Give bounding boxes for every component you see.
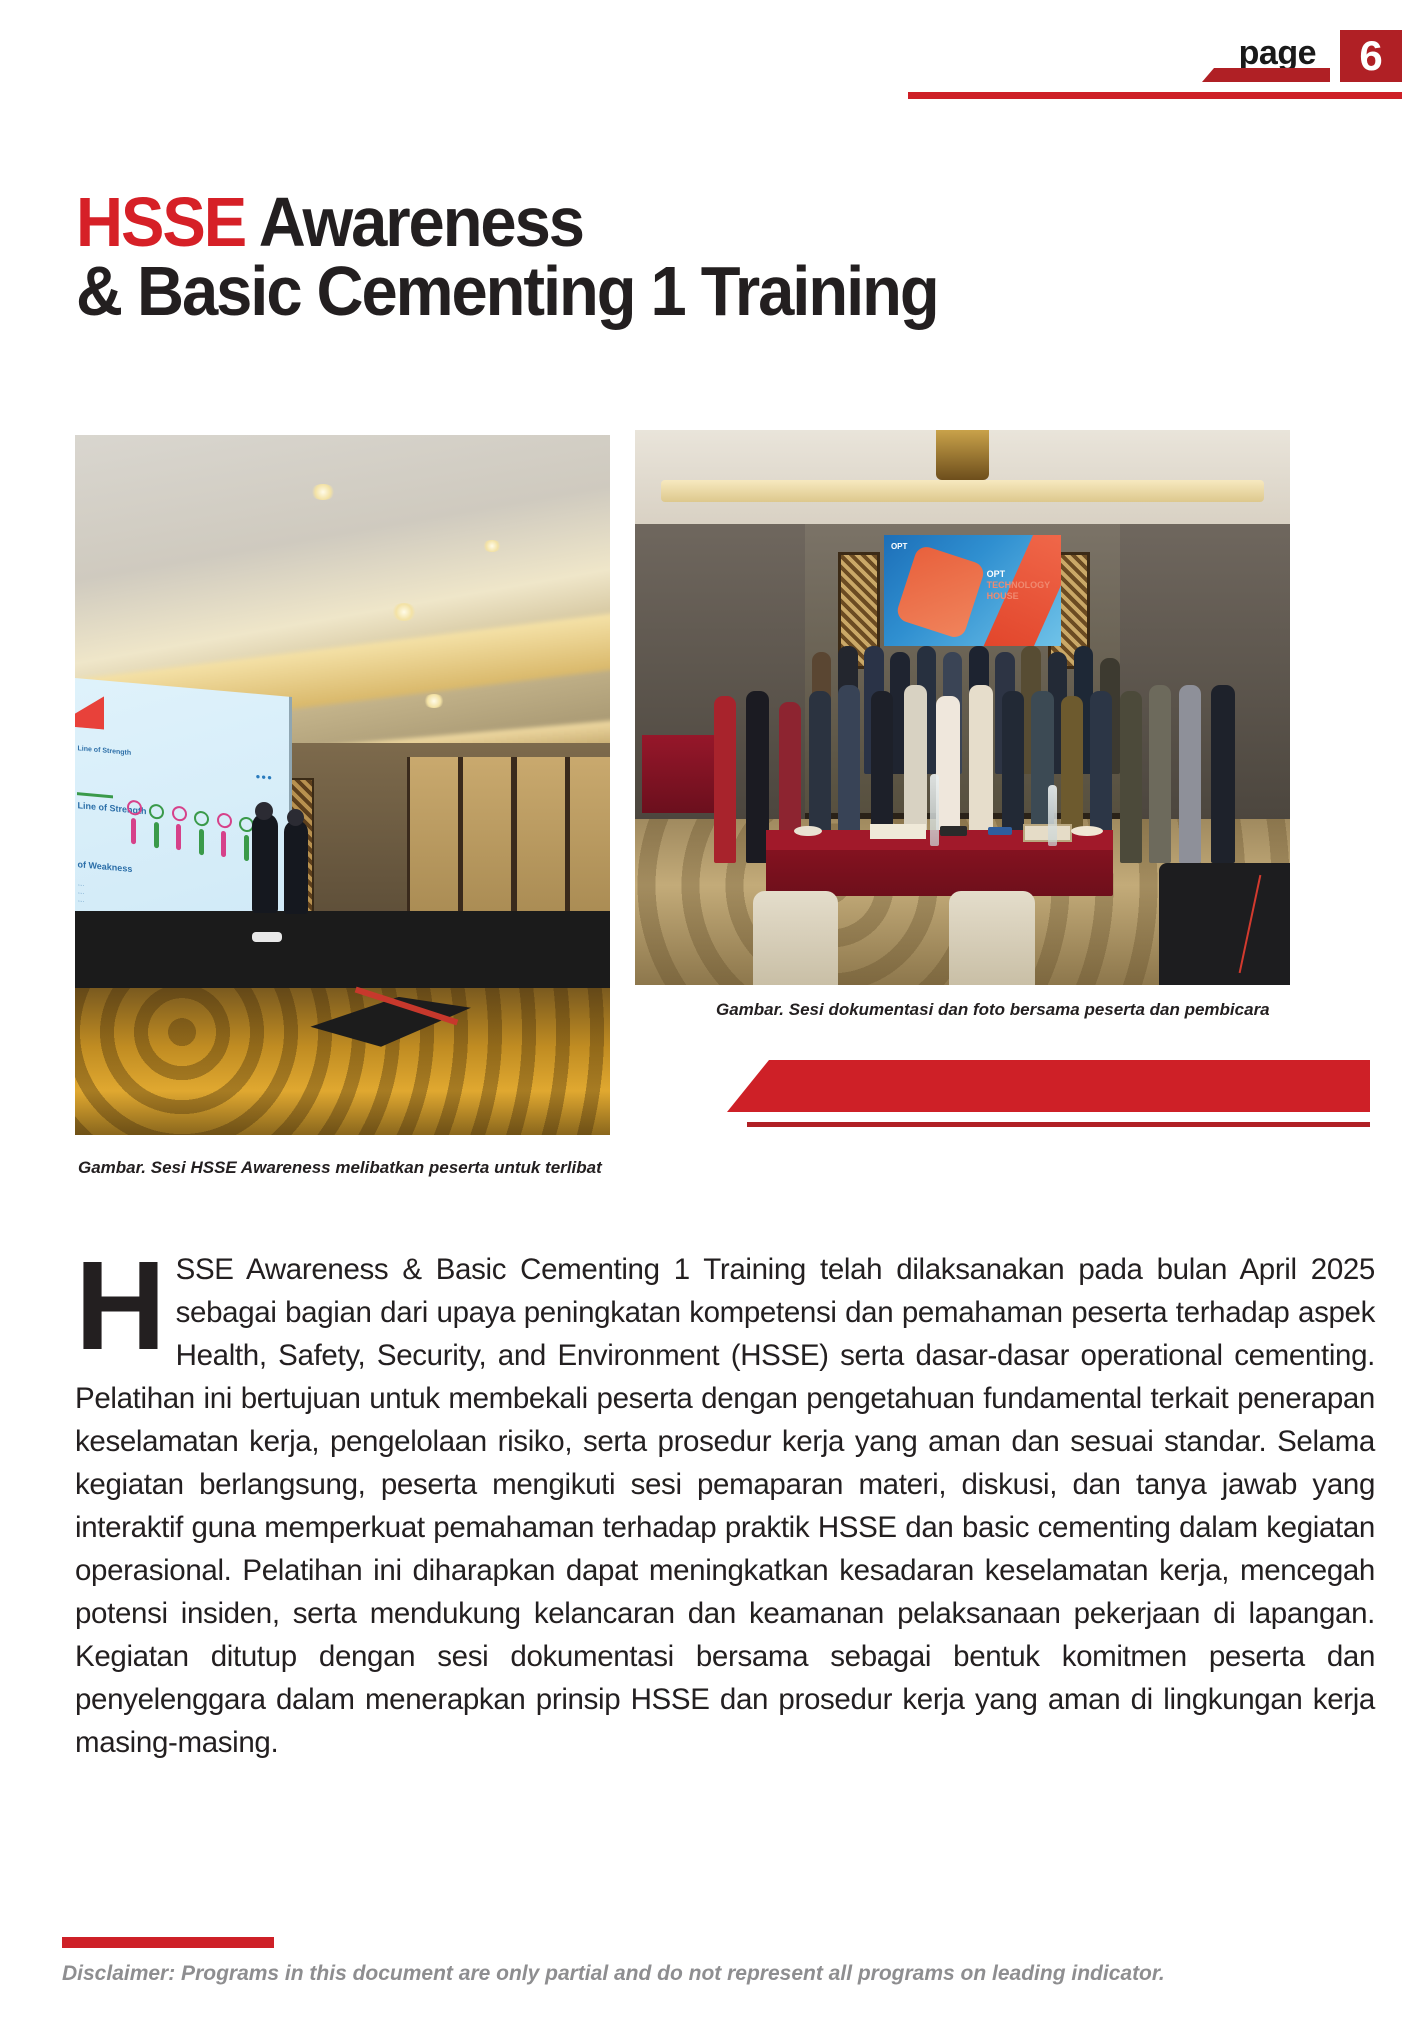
- equipment-case: [1159, 863, 1290, 985]
- banquet-chair: [949, 891, 1034, 985]
- notepad: [870, 824, 926, 839]
- slide-title-line1: OPT: [987, 569, 1006, 579]
- patterned-carpet: [75, 988, 610, 1135]
- page-label: page: [1239, 34, 1316, 73]
- title-line-1-rest: Awareness: [245, 183, 583, 261]
- title-line-2: & Basic Cementing 1 Training: [76, 257, 1248, 326]
- figure-caption-left: Gambar. Sesi HSSE Awareness melibatkan p…: [78, 1158, 602, 1178]
- slide-title-line3: HOUSE: [987, 591, 1019, 601]
- participant: [1149, 685, 1171, 863]
- wall-panel: [567, 757, 610, 925]
- presenter-person-2: [284, 820, 308, 914]
- slide-hex-shape: [895, 544, 986, 640]
- participant: [714, 696, 736, 863]
- banner-parallelogram: [727, 1060, 1370, 1112]
- stick-figure-head: [127, 799, 142, 815]
- presenter-head-2: [287, 809, 304, 826]
- carpet-pattern: [75, 988, 610, 1135]
- footer-red-rule: [62, 1937, 274, 1948]
- plate: [794, 826, 822, 837]
- stick-figure-head: [172, 806, 187, 822]
- remote-device: [940, 826, 968, 837]
- disclaimer-text: Disclaimer: Programs in this document ar…: [62, 1962, 1165, 1986]
- presenter-head: [255, 802, 273, 820]
- water-bottle: [1048, 785, 1057, 846]
- article-body: HSSE Awareness & Basic Cementing 1 Train…: [75, 1248, 1375, 1764]
- slide-brand-logo: OPT: [891, 542, 907, 551]
- page-header: page 6: [0, 0, 1428, 110]
- presenter-shoes: [252, 932, 282, 942]
- back-wall-right: [1120, 524, 1290, 829]
- ceiling-cove-light: [661, 480, 1264, 502]
- title-line-1: HSSE Awareness: [76, 188, 1248, 257]
- decorative-red-banner: [727, 1060, 1370, 1132]
- stick-figure-head: [217, 812, 232, 828]
- ceiling-downlight: [482, 540, 502, 552]
- stick-figure-head: [195, 810, 210, 826]
- wall-panel: [460, 757, 514, 925]
- article-title: HSSE Awareness & Basic Cementing 1 Train…: [76, 188, 1336, 325]
- projection-screen: OPT OPT TECHNOLOGY HOUSE: [884, 535, 1061, 646]
- title-highlight-hsse: HSSE: [76, 183, 245, 261]
- page-number-badge: 6: [1340, 30, 1402, 82]
- photo-left-scene: Line of Strength ●●● Line of Strength of…: [75, 435, 610, 1135]
- header-red-rule: [908, 92, 1402, 99]
- wall-panel: [407, 757, 461, 925]
- participant: [1179, 685, 1201, 863]
- slide-title-text: OPT TECHNOLOGY HOUSE: [987, 569, 1051, 602]
- stick-figure-body: [199, 829, 204, 855]
- slide-red-shape: [75, 692, 105, 730]
- slide-green-line: [78, 792, 114, 798]
- participant: [1120, 691, 1142, 863]
- stick-figure-body: [132, 818, 137, 844]
- ceiling-downlight: [423, 694, 445, 708]
- slide-title-line2: TECHNOLOGY: [987, 580, 1051, 590]
- slide-heading-small: Line of Strength: [78, 746, 132, 758]
- stick-figure-body: [154, 822, 159, 848]
- page-label-underline-shape: [1202, 68, 1330, 82]
- stick-figure-body: [177, 824, 182, 850]
- water-bottle: [930, 774, 939, 846]
- photo-right-scene: OPT OPT TECHNOLOGY HOUSE: [635, 430, 1290, 985]
- stick-figure-head: [150, 804, 165, 820]
- figure-group-documentation-photo: OPT OPT TECHNOLOGY HOUSE: [635, 430, 1290, 985]
- mobile-phone: [988, 827, 1012, 835]
- presenter-person: [252, 813, 278, 913]
- stick-figure-body: [244, 835, 249, 861]
- participant: [1211, 685, 1235, 863]
- banner-underline-rule: [747, 1122, 1370, 1127]
- figure-caption-right: Gambar. Sesi dokumentasi dan foto bersam…: [716, 1000, 1270, 1020]
- slide-label-of-weakness: of Weakness: [78, 860, 133, 875]
- front-table: [766, 830, 1113, 897]
- banquet-chair: [753, 891, 838, 985]
- wall-panel: [514, 757, 568, 925]
- stick-figure-body: [222, 831, 227, 857]
- ceiling-downlight: [391, 603, 417, 621]
- ceiling-chandelier: [936, 430, 988, 480]
- figure-hsse-awareness-session: Line of Strength ●●● Line of Strength of…: [75, 435, 610, 1135]
- slide-logo: ●●●: [256, 771, 274, 782]
- slide-body-text: ............: [78, 880, 85, 905]
